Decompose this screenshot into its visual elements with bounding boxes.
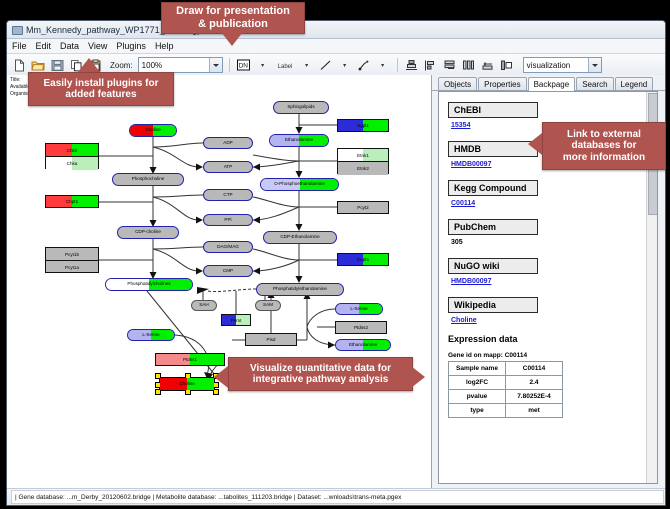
gene-label: Cept1 (357, 257, 369, 262)
exp-key-pvalue: pvalue (449, 390, 506, 404)
node-label: Phosphatidylcholines (127, 282, 170, 287)
pathway-canvas[interactable]: Title: Available Organism (7, 75, 431, 488)
node-label: Ethanolamine (349, 343, 377, 348)
tab-objects[interactable]: Objects (438, 77, 477, 90)
callout-draw: Draw for presentation & publication (161, 2, 305, 34)
side-panel-tabs: Objects Properties Backpage Search Legen… (432, 75, 665, 91)
node-label: CDP-Ethanolamine (280, 235, 319, 240)
z-order-icon[interactable] (499, 57, 515, 73)
node-choline-top[interactable]: Choline (129, 124, 177, 137)
datanode-icon[interactable]: DN (236, 57, 252, 73)
gene-label: Etnk1 (357, 153, 369, 158)
svg-text:DN: DN (239, 62, 249, 69)
db-link-wikipedia[interactable]: Choline (451, 317, 646, 324)
node-sah[interactable]: SAH (191, 300, 217, 311)
gene-box-chpt1[interactable]: Chpt1 (45, 195, 99, 208)
callout-links-arrow-icon (528, 133, 542, 155)
app-icon (11, 24, 22, 35)
exp-key-log2fc: log2FC (449, 376, 506, 390)
node-label: CMP (223, 269, 233, 274)
entry-pubchem: PubChem 305 (448, 217, 646, 246)
gene-label: Etnk2 (357, 166, 369, 171)
db-header-chebi: ChEBI (448, 102, 538, 118)
line-dropdown-icon[interactable]: ▾ (337, 57, 353, 73)
menu-item-plugins[interactable]: Plugins (116, 41, 146, 51)
node-label: Sphingolipids (287, 105, 314, 110)
callout-visualize: Visualize quantitative data for integrat… (228, 357, 413, 391)
status-bar-text: | Gene database: ...m_Derby_20120602.bri… (11, 490, 664, 504)
table-row: log2FC 2.4 (449, 376, 563, 390)
tab-search[interactable]: Search (576, 77, 613, 90)
visualization-combo[interactable]: visualization (523, 57, 602, 73)
stack-icon[interactable] (442, 57, 458, 73)
node-phosphocholine[interactable]: Phosphocholine (112, 173, 184, 186)
db-header-hmdb: HMDB (448, 141, 538, 157)
gene-box-pemt[interactable]: Pemt (221, 314, 251, 326)
gene-id-line: Gene id on mapp: C00114 (448, 352, 646, 359)
menu-item-help[interactable]: Help (155, 41, 174, 51)
save-icon[interactable] (49, 57, 65, 73)
node-o-phosphoethanolamine[interactable]: O-Phosphoethanolamine (260, 178, 339, 191)
callout-visualize-arrow-right-icon (411, 366, 425, 388)
node-ppi[interactable]: PPi (203, 214, 253, 226)
gene-box-pcyt2[interactable]: Pcyt2 (337, 201, 389, 214)
menu-bar: File Edit Data View Plugins Help (7, 39, 665, 54)
align-top-icon[interactable] (404, 57, 420, 73)
node-label: L-Serine (350, 307, 367, 312)
node-label: PPi (224, 218, 231, 223)
node-ctp[interactable]: CTP (203, 189, 253, 201)
exp-key-type: type (449, 404, 506, 418)
node-l-serine-left[interactable]: L-Serine (127, 329, 175, 341)
gene-label: Chpt1 (66, 199, 78, 204)
gene-box-pisd[interactable]: Pisd (245, 333, 297, 346)
tab-legend[interactable]: Legend (615, 77, 654, 90)
label-tool-icon[interactable]: Label (274, 57, 296, 73)
callout-plugins-arrow-icon (78, 58, 100, 72)
visualization-value: visualization (527, 61, 571, 70)
table-row: pvalue 7.80252E-4 (449, 390, 563, 404)
db-header-kegg-compound: Kegg Compound (448, 180, 538, 196)
db-link-kegg-compound[interactable]: C00114 (451, 200, 646, 207)
exp-val-log2fc: 2.4 (506, 376, 563, 390)
exp-val-sample-name: C00114 (506, 362, 563, 376)
gene-label: Pcyt2 (357, 205, 369, 210)
tab-backpage[interactable]: Backpage (528, 77, 576, 91)
label-dropdown-icon[interactable]: ▾ (299, 57, 315, 73)
node-phosphatidylethanolamine[interactable]: Phosphatidylethanolamine (256, 283, 344, 296)
node-label: ATP (224, 165, 233, 170)
table-row: Sample name C00114 (449, 362, 563, 376)
node-choline-selected[interactable]: Choline (159, 377, 215, 391)
db-link-nugo-wiki[interactable]: HMDB00097 (451, 278, 646, 285)
entry-kegg: Kegg Compound C00114 (448, 178, 646, 207)
node-ethanolamine-top[interactable]: Ethanolamine (269, 134, 329, 147)
tab-properties[interactable]: Properties (478, 77, 526, 90)
node-dagmag[interactable]: DAG/MAG (203, 241, 253, 253)
gene-box-ptdss1[interactable]: Ptdss1 (155, 353, 225, 366)
gene-label: Chka (67, 161, 78, 166)
exp-key-sample-name: Sample name (449, 362, 506, 376)
toolbar-separator (229, 58, 230, 72)
open-icon[interactable] (30, 57, 46, 73)
db-header-pubchem: PubChem (448, 219, 538, 235)
zoom-combo[interactable]: 100% (138, 57, 223, 73)
callout-plugins: Easily install plugins for added feature… (28, 72, 174, 106)
node-label: Choline (179, 382, 195, 387)
node-phosphatidylcholines[interactable]: Phosphatidylcholines (105, 278, 193, 291)
expression-data-title: Expression data (448, 334, 646, 344)
node-sphingolipids[interactable]: Sphingolipids (273, 101, 329, 114)
expression-table: Sample name C00114 log2FC 2.4 pvalue 7.8… (448, 361, 563, 418)
node-label: Choline (145, 128, 161, 133)
menu-item-edit[interactable]: Edit (36, 41, 52, 51)
db-header-wikipedia: Wikipedia (448, 297, 538, 313)
gene-box-ptdss2[interactable]: Ptdss2 (335, 321, 387, 334)
table-row: type met (449, 404, 563, 418)
gene-label: Pcyt1b (65, 252, 79, 257)
interaction-dropdown-icon[interactable]: ▾ (375, 57, 391, 73)
align-left-icon[interactable] (423, 57, 439, 73)
gene-label: Pcyt1a (65, 265, 79, 270)
entry-nugo: NuGO wiki HMDB00097 (448, 256, 646, 285)
node-label: ADP (223, 141, 232, 146)
screenshot-root: Mm_Kennedy_pathway_WP1771_45176.gpml Fil… (0, 0, 670, 509)
node-cdp-ethanolamine[interactable]: CDP-Ethanolamine (263, 231, 337, 244)
zoom-label: Zoom: (110, 61, 133, 70)
gene-box-sgpl1[interactable]: Sgpl1 (337, 119, 389, 132)
gene-box-etnk[interactable]: Etnk1 Etnk2 (337, 148, 389, 174)
gene-label: Pemt (231, 318, 242, 323)
node-label: DAG/MAG (217, 245, 239, 250)
callout-draw-arrow-icon (221, 32, 243, 46)
gene-box-pcyt1[interactable]: Pcyt1b Pcyt1a (45, 247, 99, 273)
title-bar: Mm_Kennedy_pathway_WP1771_45176.gpml (7, 21, 665, 39)
visualization-chevron-down-icon[interactable] (588, 58, 601, 72)
gene-label: Ptdss2 (354, 325, 368, 330)
entry-wikipedia: Wikipedia Choline (448, 295, 646, 324)
node-label: O-Phosphoethanolamine (274, 182, 325, 187)
node-label: SAM (263, 303, 273, 308)
node-adp[interactable]: ADP (203, 137, 253, 149)
callout-links: Link to external databases for more info… (542, 122, 666, 170)
db-value-pubchem: 305 (451, 239, 646, 246)
node-sam[interactable]: SAM (255, 300, 281, 311)
menu-item-file[interactable]: File (12, 41, 27, 51)
gene-label: Chkb (67, 148, 78, 153)
line-tool-icon[interactable] (318, 57, 334, 73)
node-ethanolamine-right[interactable]: Ethanolamine (335, 339, 391, 351)
common-size-icon[interactable] (480, 57, 496, 73)
gene-label: Pisd (267, 337, 276, 342)
toolbar-separator-2 (397, 58, 398, 72)
db-header-nugo-wiki: NuGO wiki (448, 258, 538, 274)
node-label: Phosphocholine (132, 177, 165, 182)
svg-text:Label: Label (277, 64, 292, 70)
chevron-down-icon[interactable] (209, 58, 222, 72)
node-l-serine-right[interactable]: L-Serine (335, 303, 383, 315)
gene-box-cept1[interactable]: Cept1 (337, 253, 389, 266)
node-label: L-Serine (142, 333, 159, 338)
gene-label: Sgpl1 (357, 123, 369, 128)
gene-label: Ptdss1 (183, 357, 197, 362)
node-atp[interactable]: ATP (203, 161, 253, 173)
node-label: CTP (223, 193, 232, 198)
status-bar: | Gene database: ...m_Derby_20120602.bri… (7, 488, 665, 505)
new-icon[interactable] (11, 57, 27, 73)
node-cdp-choline[interactable]: CDP-choline (117, 226, 179, 239)
pathway-canvas-pane[interactable]: Title: Available Organism (7, 75, 432, 488)
node-cmp[interactable]: CMP (203, 265, 253, 277)
zoom-value: 100% (142, 61, 162, 70)
datanode-dropdown-icon[interactable]: ▾ (255, 57, 271, 73)
exp-val-type: met (506, 404, 563, 418)
node-label: Ethanolamine (285, 138, 313, 143)
menu-item-view[interactable]: View (88, 41, 107, 51)
exp-val-pvalue: 7.80252E-4 (506, 390, 563, 404)
gene-box-chk[interactable]: Chkb Chka (45, 143, 99, 169)
node-label: Phosphatidylethanolamine (273, 287, 327, 292)
node-label: CDP-choline (135, 230, 161, 235)
interaction-tool-icon[interactable] (356, 57, 372, 73)
node-label: SAH (199, 303, 208, 308)
menu-item-data[interactable]: Data (60, 41, 79, 51)
distribute-icon[interactable] (461, 57, 477, 73)
callout-visualize-arrow-left-icon (214, 366, 228, 388)
